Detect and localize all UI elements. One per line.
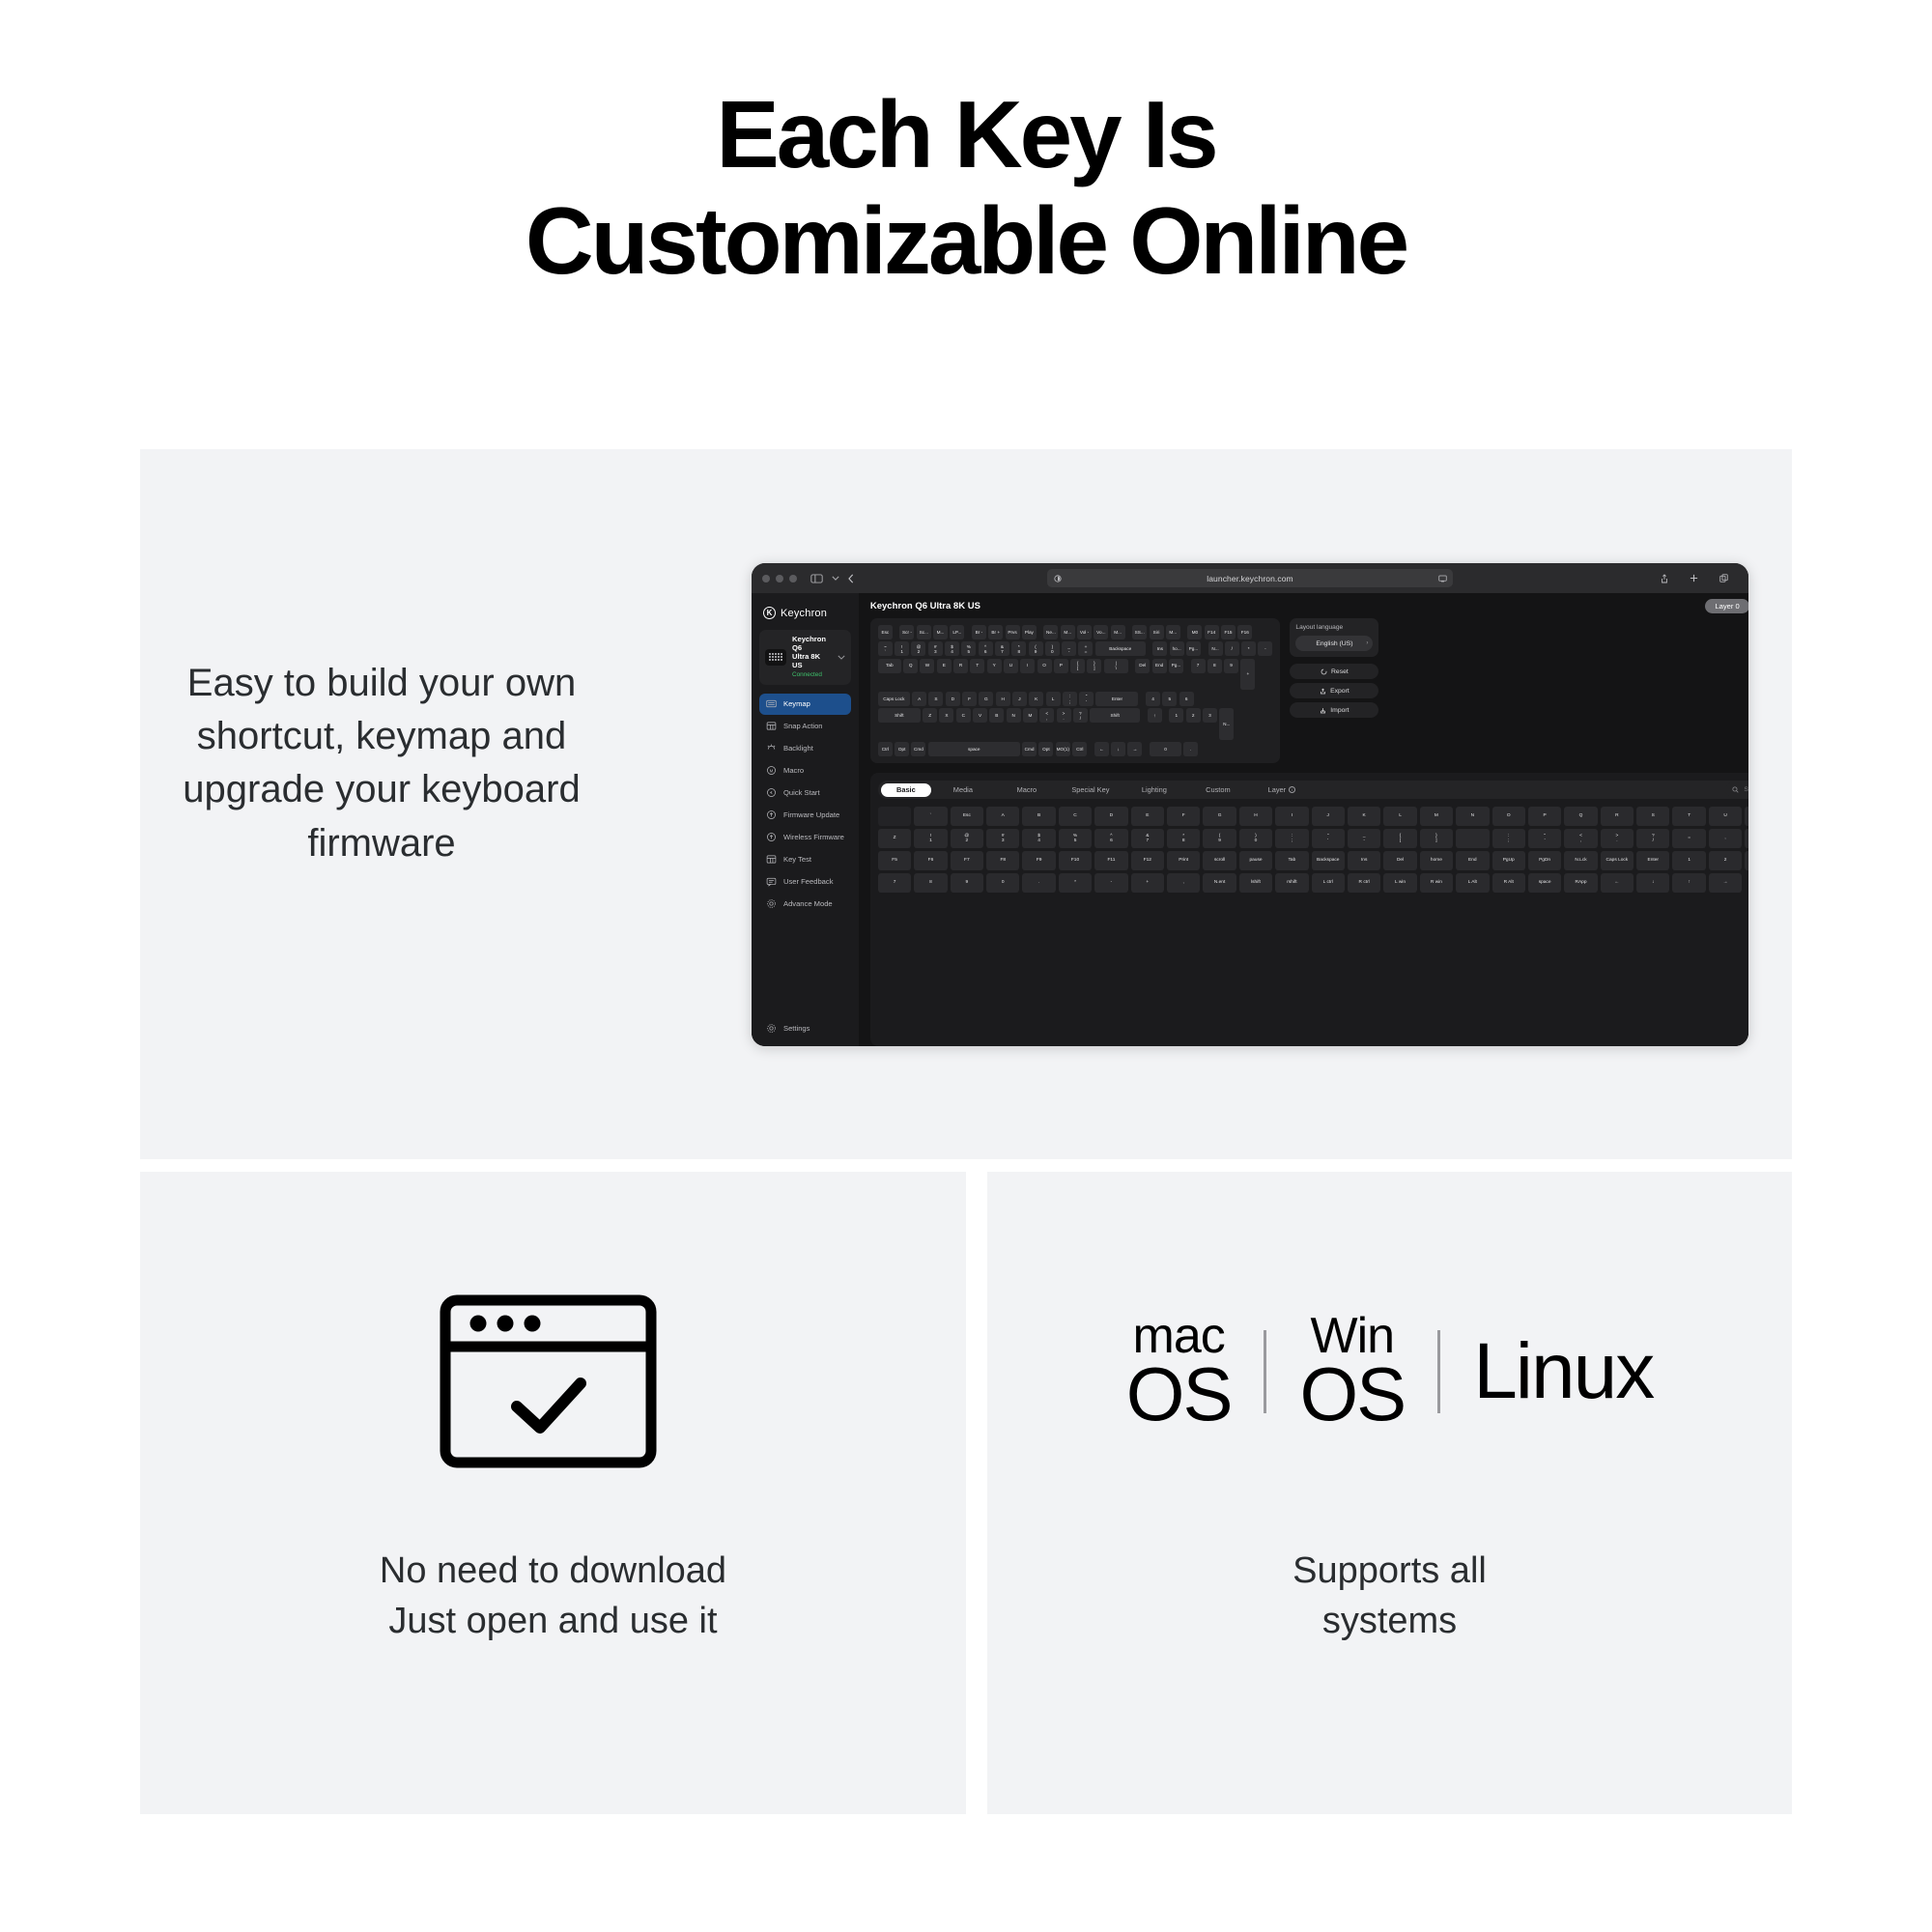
keycap[interactable]: "': [1079, 692, 1094, 706]
key-grid-cell[interactable]: ↓: [1636, 873, 1669, 893]
key-grid-cell[interactable]: Backspace: [1312, 851, 1345, 870]
key-grid-cell[interactable]: F7: [951, 851, 983, 870]
keycap-label: Br -: [976, 630, 983, 635]
key-grid-cell[interactable]: F8: [986, 851, 1019, 870]
page-title: Each Key Is Customizable Online: [0, 82, 1932, 295]
chevron-down-icon[interactable]: [832, 576, 839, 581]
key-grid-cell[interactable]: +: [1131, 873, 1164, 893]
keycap[interactable]: 7: [1191, 659, 1206, 673]
keycap[interactable]: Pg...: [1186, 641, 1201, 656]
reset-button-label: Reset: [1331, 668, 1349, 675]
key-grid-cell[interactable]: *8: [1167, 829, 1200, 848]
key-grid-cell[interactable]: C: [1059, 807, 1092, 826]
keycap[interactable]: Play: [1022, 625, 1037, 639]
keymap-row: ShiftZXCVBNM<,>.?/Shift↑123N...: [878, 708, 1273, 739]
key-grid-cell[interactable]: R ctrl: [1348, 873, 1380, 893]
keycap[interactable]: J: [1012, 692, 1027, 706]
key-grid-cell[interactable]: home: [1420, 851, 1453, 870]
key-grid-cell[interactable]: [878, 807, 911, 826]
keycap-label: Cmd: [914, 747, 923, 752]
key-grid-cell[interactable]: U: [1709, 807, 1742, 826]
keycap[interactable]: .: [1183, 742, 1198, 756]
key-grid-cell-lower: 7: [1146, 838, 1149, 844]
layer-tab-layer-0[interactable]: Layer 0: [1705, 599, 1748, 613]
keycap[interactable]: $4: [945, 641, 959, 656]
keycap[interactable]: Br +: [988, 625, 1003, 639]
keycap[interactable]: +=: [1078, 641, 1093, 656]
keycap[interactable]: Q: [903, 659, 918, 673]
keycap[interactable]: W: [920, 659, 934, 673]
keycap[interactable]: #3: [928, 641, 943, 656]
key-grid-cell[interactable]: R win: [1420, 873, 1453, 893]
keycap[interactable]: Opt: [1038, 742, 1053, 756]
key-grid-cell[interactable]: G: [1203, 807, 1236, 826]
keycap[interactable]: M...: [1111, 625, 1125, 639]
keyboard-layout[interactable]: EscScr -Sc...M...LP...Br -Br +PrvsPlayNe…: [870, 618, 1281, 763]
key-grid-cell-label: `: [930, 813, 932, 819]
key-grid-cell[interactable]: "': [1312, 829, 1345, 848]
sidebar-item-key-test[interactable]: Key Test: [759, 849, 851, 870]
key-grid-cell-lower: 8: [1182, 838, 1185, 844]
key-grid-cell[interactable]: `: [914, 807, 947, 826]
keycap[interactable]: LP...: [950, 625, 964, 639]
key-grid-cell[interactable]: 0: [986, 873, 1019, 893]
key-grid-cell[interactable]: F11: [1094, 851, 1127, 870]
key-grid-cell[interactable]: S: [1636, 807, 1669, 826]
key-grid-cell[interactable]: <,: [1564, 829, 1597, 848]
key-grid-cell[interactable]: F5: [878, 851, 911, 870]
keycap[interactable]: V: [973, 708, 987, 723]
keycap-label: Shift: [895, 713, 903, 718]
key-grid-cell[interactable]: Ins: [1348, 851, 1380, 870]
key-grid-cell-label: RApp: [1575, 880, 1586, 886]
chevron-down-icon[interactable]: [838, 653, 845, 662]
sidebar-item-firmware-update[interactable]: Firmware Update: [759, 805, 851, 826]
keycap[interactable]: M: [1023, 708, 1037, 723]
key-grid-cell[interactable]: F1: [1745, 829, 1748, 848]
keycap-label: D: [952, 696, 954, 701]
key-grid-cell-label: Z: [894, 836, 896, 841]
keycap[interactable]: 6: [1179, 692, 1194, 706]
keycap[interactable]: 1: [1169, 708, 1183, 723]
keycap-label: Shift: [1110, 713, 1119, 718]
picker-tab-special-key[interactable]: Special Key: [1059, 783, 1122, 797]
keycap[interactable]: Prvs: [1006, 625, 1020, 639]
keycap[interactable]: X: [939, 708, 953, 723]
key-grid-cell-label: →: [1723, 880, 1728, 886]
keycap[interactable]: Sc...: [917, 625, 931, 639]
keycap-label: Scr -: [902, 630, 912, 635]
key-grid-cell[interactable]: 9: [951, 873, 983, 893]
keycap[interactable]: Opt: [895, 742, 909, 756]
keycap[interactable]: 3: [1203, 708, 1217, 723]
key-grid-cell[interactable]: F9: [1022, 851, 1055, 870]
keycap[interactable]: Shift: [1090, 708, 1140, 723]
sidebar-item-settings[interactable]: Settings: [759, 1017, 851, 1038]
key-grid-cell[interactable]: K: [1348, 807, 1380, 826]
key-grid-cell[interactable]: M: [1420, 807, 1453, 826]
keycap[interactable]: A: [912, 692, 926, 706]
keycap[interactable]: M...: [933, 625, 948, 639]
keycap-lower: ,: [1046, 716, 1047, 721]
key-grid-cell[interactable]: →: [1709, 873, 1742, 893]
key-grid-cell[interactable]: 2: [1709, 851, 1742, 870]
keycap[interactable]: SS...: [1132, 625, 1147, 639]
key-grid-cell[interactable]: N.Lck: [1564, 851, 1597, 870]
keycap[interactable]: @2: [911, 641, 925, 656]
key-grid-cell[interactable]: pause: [1239, 851, 1272, 870]
sidebar-item-macro[interactable]: MMacro: [759, 760, 851, 781]
keycap-label: Cmd: [1025, 747, 1035, 752]
picker-tab-basic[interactable]: Basic: [881, 783, 931, 797]
key-grid-cell[interactable]: I: [1275, 807, 1308, 826]
key-grid-cell[interactable]: E: [1131, 807, 1164, 826]
key-grid-cell[interactable]: $4: [1022, 829, 1055, 848]
keycap[interactable]: %5: [961, 641, 976, 656]
key-grid-cell[interactable]: ^6: [1094, 829, 1127, 848]
keycap[interactable]: O: [1037, 659, 1052, 673]
keycap[interactable]: Z: [923, 708, 937, 723]
key-grid-cell[interactable]: 7: [878, 873, 911, 893]
key-grid-cell[interactable]: ↑: [1672, 873, 1705, 893]
keycap[interactable]: _-: [1062, 641, 1076, 656]
keycap[interactable]: R: [953, 659, 968, 673]
keycap[interactable]: G: [979, 692, 993, 706]
keycap[interactable]: Cmd: [911, 742, 925, 756]
keycap[interactable]: 2: [1186, 708, 1201, 723]
minimize-window-button[interactable]: [776, 575, 783, 582]
keycap[interactable]: M0: [1187, 625, 1202, 639]
key-grid-cell[interactable]: (9: [1203, 829, 1236, 848]
key-grid-cell[interactable]: !1: [914, 829, 947, 848]
keycap[interactable]: Cmd: [1022, 742, 1037, 756]
key-grid-cell[interactable]: }]: [1420, 829, 1453, 848]
keycap[interactable]: Siri: [1150, 625, 1164, 639]
keycap[interactable]: Br -: [972, 625, 986, 639]
key-grid-cell[interactable]: A: [986, 807, 1019, 826]
keycap[interactable]: Ins: [1152, 641, 1167, 656]
key-grid-cell[interactable]: P: [1528, 807, 1561, 826]
plus-icon[interactable]: [1690, 574, 1698, 582]
keycap[interactable]: End: [1152, 659, 1167, 673]
key-grid-cell[interactable]: D: [1094, 807, 1127, 826]
key-grid-cell-label: 0: [1002, 880, 1005, 886]
sidebar-item-snap-action[interactable]: Snap Action: [759, 716, 851, 737]
key-grid-cell-label: L ctrl: [1323, 880, 1333, 886]
keycap[interactable]: &7: [995, 641, 1009, 656]
key-grid-cell[interactable]: ,: [1709, 829, 1742, 848]
sidebar-item-label: User Feedback: [783, 877, 834, 886]
key-grid-cell[interactable]: PgDn: [1528, 851, 1561, 870]
key-grid-cell[interactable]: N.ent: [1203, 873, 1236, 893]
key-grid-cell-lower: ': [1545, 838, 1546, 844]
keycap[interactable]: D: [946, 692, 960, 706]
keycap[interactable]: F16: [1237, 625, 1252, 639]
key-grid-cell[interactable]: F10: [1059, 851, 1092, 870]
key-grid-cell-label: R win: [1431, 880, 1442, 886]
app-main: Keychron Q6 Ultra 8K US Layer 0Layer 1La…: [859, 593, 1748, 1046]
keycap[interactable]: N: [1007, 708, 1021, 723]
key-grid-cell[interactable]: Caps Lock: [1601, 851, 1634, 870]
keycap-lower: ;: [1069, 699, 1070, 704]
search-input[interactable]: Search: [1725, 782, 1748, 797]
key-grid-cell[interactable]: H: [1239, 807, 1272, 826]
key-grid-cell[interactable]: N: [1456, 807, 1489, 826]
keycap[interactable]: Ctrl: [878, 742, 893, 756]
keymap-gap: [1145, 742, 1148, 756]
keycap[interactable]: <,: [1039, 708, 1054, 723]
key-grid-cell[interactable]: F12: [1131, 851, 1164, 870]
traffic-light-buttons[interactable]: [762, 575, 797, 582]
key-grid-cell[interactable]: rshift: [1275, 873, 1308, 893]
keycap[interactable]: M...: [1166, 625, 1180, 639]
key-grid-cell[interactable]: F6: [914, 851, 947, 870]
key-grid-cell[interactable]: 1: [1672, 851, 1705, 870]
key-grid-cell-label: =: [1688, 836, 1690, 841]
key-grid-cell[interactable]: Tab: [1275, 851, 1308, 870]
keycap[interactable]: MO(1): [1056, 742, 1070, 756]
key-grid-cell[interactable]: .: [1022, 873, 1055, 893]
import-button[interactable]: Import: [1290, 702, 1378, 718]
key-grid-cell[interactable]: Q: [1564, 807, 1597, 826]
keycap[interactable]: ho...: [1170, 641, 1184, 656]
keycap[interactable]: 4: [1146, 692, 1160, 706]
key-grid-cell[interactable]: Z: [878, 829, 911, 848]
key-grid-cell[interactable]: ←: [1601, 873, 1634, 893]
keycap[interactable]: Y: [987, 659, 1002, 673]
key-grid-cell[interactable]: B: [1022, 807, 1055, 826]
picker-tab-media[interactable]: Media: [931, 783, 995, 797]
key-grid-cell[interactable]: &7: [1131, 829, 1164, 848]
key-picker-grid[interactable]: `EscABCDEFGHIJKLMNOPQRSTUVWXYZ!1@2#3$4%5…: [878, 807, 1748, 893]
key-grid-cell[interactable]: #3: [986, 829, 1019, 848]
keycap[interactable]: ←: [1094, 742, 1109, 756]
picker-tab-layer[interactable]: Layeri: [1250, 783, 1314, 797]
key-grid-cell-label: E: [1146, 813, 1149, 819]
key-grid-cell[interactable]: ,: [1167, 873, 1200, 893]
key-grid-cell[interactable]: "': [1528, 829, 1561, 848]
key-grid-cell[interactable]: 8: [914, 873, 947, 893]
key-grid-cell[interactable]: V: [1745, 807, 1748, 826]
key-grid-cell[interactable]: F: [1167, 807, 1200, 826]
sidebar-item-wireless-firmware[interactable]: Wireless Firmware: [759, 827, 851, 848]
keycap[interactable]: -: [1258, 641, 1272, 656]
key-grid-cell[interactable]: Enter: [1636, 851, 1669, 870]
export-button[interactable]: Export: [1290, 683, 1378, 698]
key-grid-cell[interactable]: %5: [1059, 829, 1092, 848]
keycap-label: 1: [1176, 713, 1179, 718]
keycap[interactable]: Shift: [878, 708, 921, 723]
back-chevron-icon[interactable]: [848, 574, 854, 583]
keycap[interactable]: Del: [1135, 659, 1150, 673]
keycap[interactable]: C: [956, 708, 971, 723]
keycap[interactable]: Ne...: [1043, 625, 1058, 639]
keycap-label: Tab: [886, 663, 894, 668]
key-grid-cell-lower: 0: [1255, 838, 1258, 844]
keycap[interactable]: !1: [895, 641, 909, 656]
keycap[interactable]: *: [1241, 641, 1256, 656]
key-grid-cell[interactable]: *: [1059, 873, 1092, 893]
maximize-window-button[interactable]: [789, 575, 797, 582]
keycap[interactable]: |\: [1104, 659, 1128, 673]
key-grid-cell[interactable]: :;: [1492, 829, 1525, 848]
key-grid-cell[interactable]: lshift: [1239, 873, 1272, 893]
key-grid-cell[interactable]: J: [1312, 807, 1345, 826]
picker-tab-lighting[interactable]: Lighting: [1122, 783, 1186, 797]
keycap[interactable]: (9: [1029, 641, 1043, 656]
keycap[interactable]: *8: [1011, 641, 1026, 656]
keycap[interactable]: 8: [1207, 659, 1222, 673]
key-grid-cell[interactable]: =: [1672, 829, 1705, 848]
key-grid-cell[interactable]: PgUp: [1492, 851, 1525, 870]
keycap-label: LP...: [952, 630, 961, 635]
key-grid-cell[interactable]: L: [1383, 807, 1416, 826]
key-grid-cell-label: F7: [964, 858, 970, 864]
key-grid-cell-label: Ins: [1361, 858, 1367, 864]
keycap[interactable]: ~`: [878, 641, 893, 656]
keycap-label: V: [979, 713, 981, 718]
keycap[interactable]: I: [1020, 659, 1035, 673]
keycap[interactable]: space: [928, 742, 1020, 756]
keymap-row: Caps LockASDFGHJKL:;"'Enter456: [878, 692, 1273, 706]
info-icon[interactable]: i: [1289, 786, 1295, 793]
picker-tab-custom[interactable]: Custom: [1186, 783, 1250, 797]
key-grid-cell[interactable]: Esc: [951, 807, 983, 826]
key-grid-cell-label: N.ent: [1214, 880, 1225, 886]
sidebar-item-backlight[interactable]: Backlight: [759, 738, 851, 759]
keycap[interactable]: +: [1240, 659, 1255, 690]
keycap[interactable]: P: [1054, 659, 1068, 673]
keycap[interactable]: F14: [1205, 625, 1219, 639]
key-grid-cell[interactable]: {[: [1383, 829, 1416, 848]
key-grid-cell[interactable]: Del: [1383, 851, 1416, 870]
keycap[interactable]: Esc: [878, 625, 893, 639]
sidebar-icon[interactable]: [810, 574, 823, 583]
tabs-icon[interactable]: [1719, 574, 1728, 582]
key-grid-cell-label: 9: [966, 880, 969, 886]
key-grid-cell[interactable]: :;: [1275, 829, 1308, 848]
close-window-button[interactable]: [762, 575, 770, 582]
key-grid-cell[interactable]: space: [1528, 873, 1561, 893]
key-grid-cell[interactable]: Print: [1167, 851, 1200, 870]
layout-language-select[interactable]: English (US) ›: [1295, 636, 1373, 651]
key-grid-cell[interactable]: )0: [1239, 829, 1272, 848]
key-grid-cell[interactable]: R Alt: [1492, 873, 1525, 893]
device-selector[interactable]: Keychron Q6 Ultra 8K US Connected: [759, 630, 851, 685]
picker-tab-macro[interactable]: Macro: [995, 783, 1059, 797]
key-grid-cell-lower: 3: [1002, 838, 1005, 844]
page-title-line1: Each Key Is: [716, 81, 1215, 187]
key-grid-cell-label: PgDn: [1539, 858, 1550, 864]
keycap-label: space: [968, 747, 980, 752]
keycap[interactable]: S: [928, 692, 943, 706]
key-grid-cell[interactable]: scroll: [1203, 851, 1236, 870]
keycap[interactable]: ?/: [1073, 708, 1088, 723]
keycap[interactable]: 0: [1150, 742, 1181, 756]
keycap[interactable]: Vo...: [1094, 625, 1108, 639]
keycap[interactable]: Pg...: [1169, 659, 1183, 673]
picker-tab-label: Lighting: [1142, 785, 1167, 794]
keycap[interactable]: 5: [1162, 692, 1177, 706]
keycap[interactable]: N...: [1219, 708, 1234, 739]
key-grid-cell[interactable]: _-: [1348, 829, 1380, 848]
sidebar-item-quick-start[interactable]: Quick Start: [759, 782, 851, 804]
sidebar-item-user-feedback[interactable]: User Feedback: [759, 871, 851, 893]
keycap[interactable]: Tab: [878, 659, 901, 673]
key-grid-cell[interactable]: End: [1456, 851, 1489, 870]
keycap[interactable]: M...: [1061, 625, 1075, 639]
key-grid-cell[interactable]: -: [1094, 873, 1127, 893]
address-bar[interactable]: launcher.keychron.com: [1047, 569, 1453, 587]
key-grid-cell[interactable]: RApp: [1564, 873, 1597, 893]
keycap[interactable]: Vol -: [1077, 625, 1092, 639]
keycap[interactable]: B: [989, 708, 1004, 723]
keycap[interactable]: ^6: [979, 641, 993, 656]
reset-button[interactable]: Reset: [1290, 664, 1378, 679]
keycap[interactable]: )0: [1045, 641, 1060, 656]
key-grid-cell[interactable]: L win: [1383, 873, 1416, 893]
key-grid-row: F5F6F7F8F9F10F11F12PrintscrollpauseTabBa…: [878, 851, 1748, 870]
keycap[interactable]: 9: [1224, 659, 1238, 673]
key-grid-cell[interactable]: T: [1672, 807, 1705, 826]
keycap[interactable]: {[: [1070, 659, 1085, 673]
keycap[interactable]: Caps Lock: [878, 692, 910, 706]
keycap[interactable]: Backspace: [1095, 641, 1146, 656]
key-grid-cell[interactable]: ?/: [1636, 829, 1669, 848]
keycap-lower: 5: [968, 649, 971, 654]
keycap[interactable]: →: [1127, 742, 1142, 756]
key-grid-cell[interactable]: >.: [1601, 829, 1634, 848]
backlight-icon: [766, 743, 777, 753]
keycap[interactable]: ↓: [1111, 742, 1125, 756]
sidebar-item-advance-mode[interactable]: Advance Mode: [759, 894, 851, 915]
key-grid-cell[interactable]: @2: [951, 829, 983, 848]
keycap-label: O: [1042, 663, 1046, 668]
key-grid-cell[interactable]: O: [1492, 807, 1525, 826]
key-grid-cell[interactable]: 3: [1745, 851, 1748, 870]
keycap-label: C: [962, 713, 965, 718]
keycap[interactable]: Ctrl: [1072, 742, 1087, 756]
keycap[interactable]: H: [996, 692, 1010, 706]
keycap[interactable]: F15: [1221, 625, 1236, 639]
keycap[interactable]: Enter: [1095, 692, 1138, 706]
keycap[interactable]: }]: [1087, 659, 1101, 673]
keycap[interactable]: >.: [1057, 708, 1071, 723]
keycap[interactable]: U: [1004, 659, 1018, 673]
keycap[interactable]: L: [1046, 692, 1061, 706]
key-grid-cell[interactable]: L ctrl: [1312, 873, 1345, 893]
keycap[interactable]: E: [937, 659, 952, 673]
keycap-label: F: [968, 696, 971, 701]
keycap[interactable]: :;: [1063, 692, 1077, 706]
keycap[interactable]: ↑: [1148, 708, 1162, 723]
key-grid-cell[interactable]: [1456, 829, 1489, 848]
key-grid-cell[interactable]: L Alt: [1456, 873, 1489, 893]
upload-icon: [766, 810, 777, 820]
keycap-label: Sc...: [920, 630, 928, 635]
share-icon[interactable]: [1661, 574, 1668, 583]
keycap[interactable]: N...: [1208, 641, 1223, 656]
keycap[interactable]: T: [970, 659, 984, 673]
keycap[interactable]: Scr -: [899, 625, 914, 639]
sidebar-item-keymap[interactable]: Keymap: [759, 694, 851, 715]
keycap[interactable]: F: [962, 692, 977, 706]
key-grid-cell-label: J: [1327, 813, 1329, 819]
key-grid-cell[interactable]: R: [1601, 807, 1634, 826]
keycap[interactable]: K: [1029, 692, 1043, 706]
keycap[interactable]: /: [1225, 641, 1239, 656]
reader-icon[interactable]: [1438, 575, 1447, 582]
